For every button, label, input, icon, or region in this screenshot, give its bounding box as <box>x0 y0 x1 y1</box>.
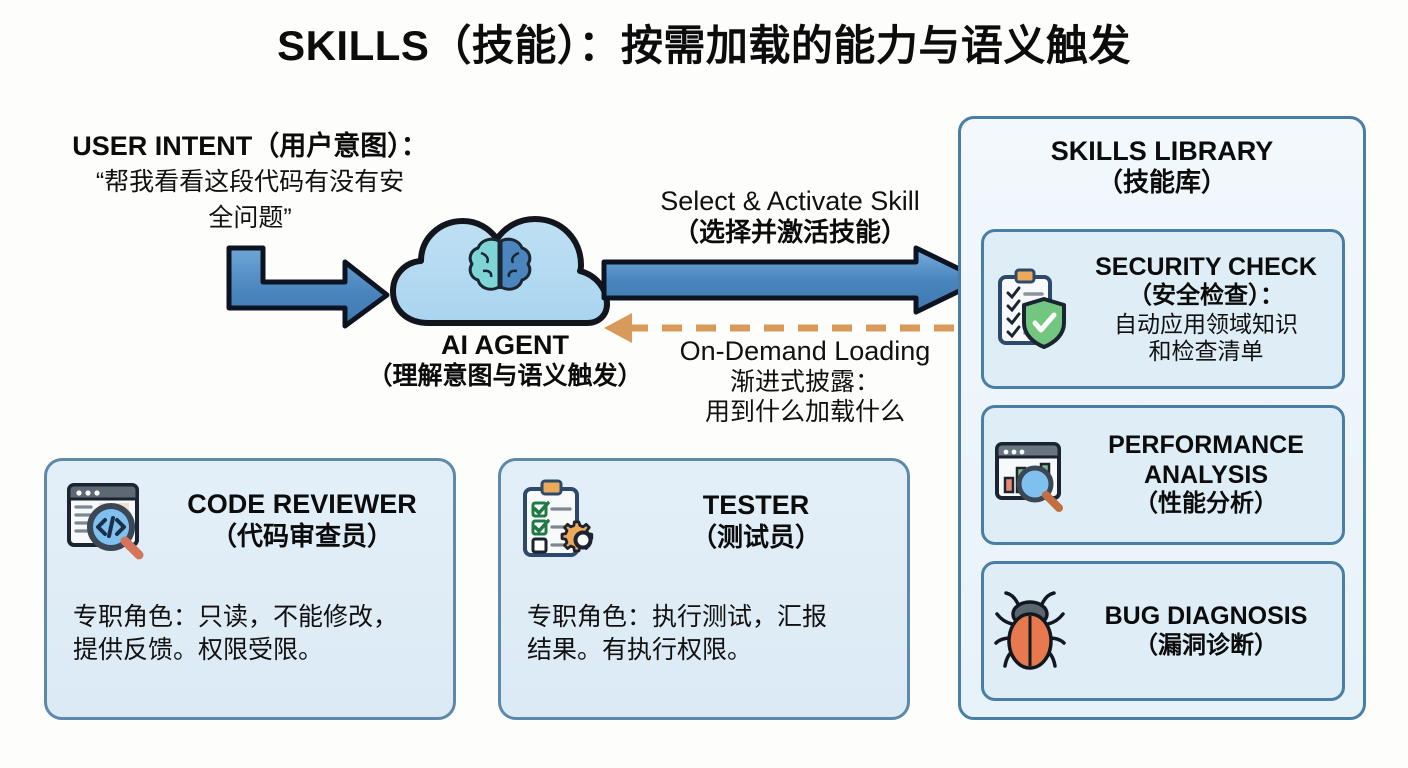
backward-flow-label: On-Demand Loading 渐进式披露： 用到什么加载什么 <box>640 335 970 427</box>
brain-icon <box>470 239 530 289</box>
skill-name-zh-1: （性能分析） <box>1076 490 1336 518</box>
role-title-en-0: CODE REVIEWER <box>165 488 439 520</box>
role-desc-1-line1: 专职角色：执行测试，汇报 <box>527 601 897 634</box>
skill-name-zh-0: （安全检查）： <box>1076 282 1336 310</box>
role-title-code-reviewer: CODE REVIEWER （代码审查员） <box>165 488 453 552</box>
diagram-canvas: SKILLS（技能）：按需加载的能力与语义触发 USER INTENT（用户意图… <box>0 0 1408 768</box>
role-title-zh-1: （测试员） <box>619 522 893 553</box>
user-intent-quote-line1: “帮我看看这段代码有没有安 <box>40 166 460 198</box>
skill-name-zh-2: （漏洞诊断） <box>1076 632 1336 660</box>
bug-icon <box>984 590 1076 672</box>
role-header-code-reviewer: CODE REVIEWER （代码审查员） <box>47 477 453 563</box>
skill-name-en-1b: ANALYSIS <box>1076 461 1336 491</box>
skill-card-performance-analysis[interactable]: PERFORMANCE ANALYSIS （性能分析） <box>981 405 1345 545</box>
role-title-tester: TESTER （测试员） <box>619 489 907 553</box>
skills-library-panel: SKILLS LIBRARY （技能库） <box>958 116 1366 720</box>
clipboard-shield-icon <box>984 267 1076 351</box>
skill-name-en-1a: PERFORMANCE <box>1076 431 1336 461</box>
role-desc-0-line1: 专职角色：只读，不能修改， <box>73 601 443 634</box>
role-desc-code-reviewer: 专职角色：只读，不能修改， 提供反馈。权限受限。 <box>73 601 443 667</box>
skill-text-security-check: SECURITY CHECK （安全检查）： 自动应用领域知识 和检查清单 <box>1076 253 1342 365</box>
ai-agent-cloud <box>385 205 615 345</box>
role-title-zh-0: （代码审查员） <box>165 521 439 552</box>
skill-name-en-0: SECURITY CHECK <box>1076 253 1336 283</box>
role-header-tester: TESTER （测试员） <box>501 477 907 565</box>
intent-to-agent-arrow <box>205 240 405 335</box>
backward-flow-label-zh-1: 渐进式披露： <box>640 367 970 397</box>
backward-flow-label-zh-2: 用到什么加载什么 <box>640 397 970 427</box>
skill-card-bug-diagnosis[interactable]: BUG DIAGNOSIS （漏洞诊断） <box>981 561 1345 701</box>
skills-library-title: SKILLS LIBRARY （技能库） <box>961 135 1363 199</box>
role-desc-0-line2: 提供反馈。权限受限。 <box>73 634 443 667</box>
skill-text-performance-analysis: PERFORMANCE ANALYSIS （性能分析） <box>1076 431 1342 518</box>
skill-card-security-check[interactable]: SECURITY CHECK （安全检查）： 自动应用领域知识 和检查清单 <box>981 229 1345 389</box>
skills-library-title-en: SKILLS LIBRARY <box>961 135 1363 167</box>
role-desc-tester: 专职角色：执行测试，汇报 结果。有执行权限。 <box>527 601 897 667</box>
backward-flow-label-en: On-Demand Loading <box>640 335 970 367</box>
ai-agent-subtitle: （理解意图与语义触发） <box>340 362 670 392</box>
clipboard-gear-icon <box>501 477 619 565</box>
skill-name-en-2: BUG DIAGNOSIS <box>1076 602 1336 632</box>
skill-desc-0-line1: 自动应用领域知识 <box>1076 311 1336 338</box>
forward-flow-label-en: Select & Activate Skill <box>600 185 980 217</box>
skills-library-title-zh: （技能库） <box>961 167 1363 198</box>
page-title: SKILLS（技能）：按需加载的能力与语义触发 <box>0 12 1408 73</box>
skill-desc-0-line2: 和检查清单 <box>1076 338 1336 365</box>
role-title-en-1: TESTER <box>619 489 893 521</box>
skill-text-bug-diagnosis: BUG DIAGNOSIS （漏洞诊断） <box>1076 602 1342 660</box>
user-intent-heading: USER INTENT（用户意图）： <box>40 130 460 162</box>
chart-magnifier-icon <box>984 436 1076 514</box>
forward-flow-label: Select & Activate Skill （选择并激活技能） <box>600 185 980 249</box>
role-desc-1-line2: 结果。有执行权限。 <box>527 634 897 667</box>
code-magnifier-icon <box>47 477 165 563</box>
role-card-tester[interactable]: TESTER （测试员） 专职角色：执行测试，汇报 结果。有执行权限。 <box>498 458 910 720</box>
role-card-code-reviewer[interactable]: CODE REVIEWER （代码审查员） 专职角色：只读，不能修改， 提供反馈… <box>44 458 456 720</box>
